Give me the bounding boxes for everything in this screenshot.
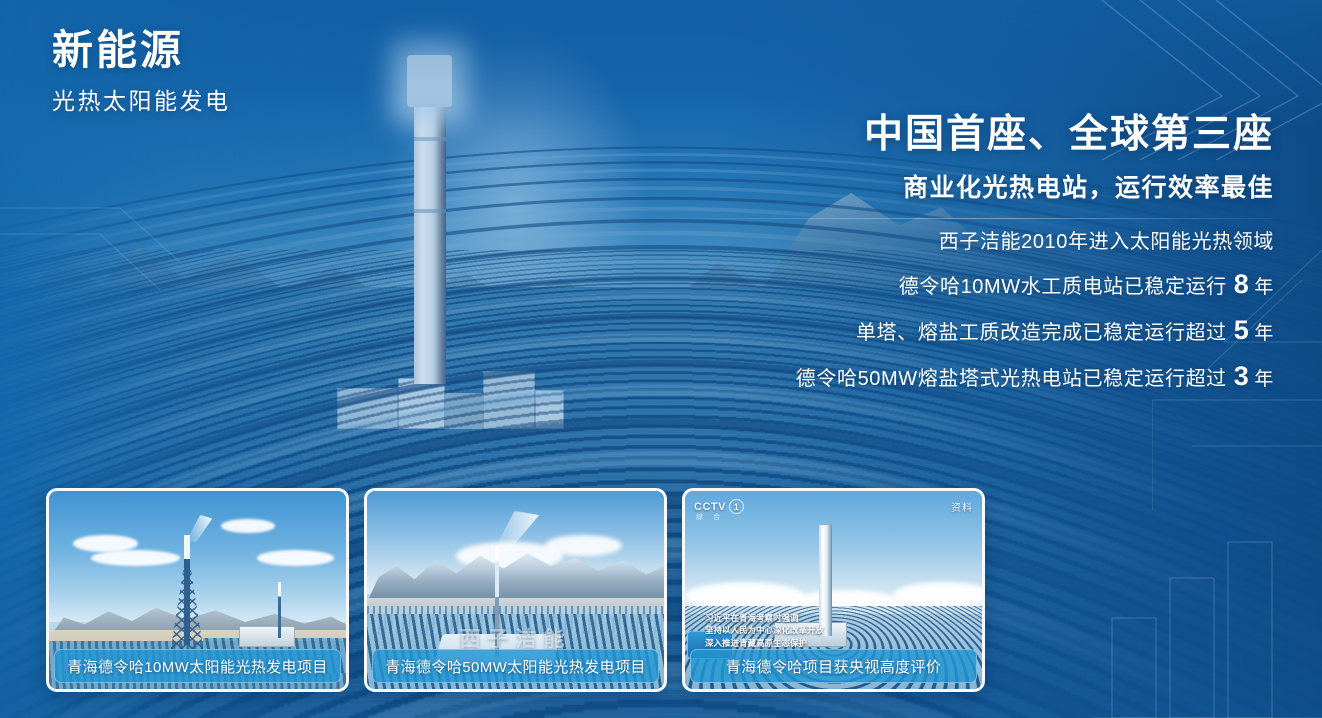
thumbnail-row: 青海德令哈10MW太阳能光热发电项目 西子洁能 青海德令哈50MW太阳能光热发电… (46, 488, 985, 692)
bullet-number: 8 (1234, 271, 1250, 298)
card-2-caption: 青海德令哈50MW太阳能光热发电项目 (372, 649, 659, 683)
bullet-unit: 年 (1254, 370, 1274, 389)
bullet-number: 3 (1234, 363, 1250, 390)
bullet-text: 德令哈50MW熔盐塔式光热电站已稳定运行超过 (796, 369, 1227, 389)
bullet-text: 单塔、熔盐工质改造完成已稳定运行超过 (856, 323, 1227, 343)
bullet-item-4: 德令哈50MW熔盐塔式光热电站已稳定运行超过3年 (654, 363, 1274, 390)
right-content: 中国首座、全球第三座 商业化光热电站，运行效率最佳 西子洁能2010年进入太阳能… (654, 112, 1274, 409)
page-title: 新能源 (52, 28, 231, 74)
headline: 中国首座、全球第三座 (654, 112, 1274, 158)
bullet-unit: 年 (1254, 278, 1274, 297)
news-ticker: 习近平在青海考察时强调 坚持以人民为中心深化改革开放 深入推进青藏高原生态保护 (705, 612, 974, 649)
cctv-sublabel: 综 合 (696, 512, 724, 522)
ticker-line-3: 深入推进青藏高原生态保护 (705, 637, 974, 649)
thumbnail-card-2[interactable]: 西子洁能 青海德令哈50MW太阳能光热发电项目 (364, 488, 667, 692)
thumbnail-card-3[interactable]: CCTV 1 综 合 资料 习近平在青海考察时强调 坚持以人民为中心深化改革开放… (682, 488, 985, 692)
bullet-item-2: 德令哈10MW水工质电站已稳定运行8年 (654, 271, 1274, 298)
bullet-item-3: 单塔、熔盐工质改造完成已稳定运行超过5年 (654, 317, 1274, 344)
card-3-caption: 青海德令哈项目获央视高度评价 (690, 649, 977, 683)
bullet-list: 西子洁能2010年进入太阳能光热领域德令哈10MW水工质电站已稳定运行8年单塔、… (654, 232, 1274, 390)
ticker-line-1: 习近平在青海考察时强调 (705, 612, 974, 624)
source-badge: 资料 (951, 499, 973, 514)
ticker-line-2: 坚持以人民为中心深化改革开放 (705, 624, 974, 636)
divider (654, 218, 1274, 219)
slide-root: 新能源 光热太阳能发电 中国首座、全球第三座 商业化光热电站，运行效率最佳 西子… (0, 0, 1322, 718)
bullet-number: 5 (1234, 317, 1250, 344)
cctv-label: CCTV (694, 501, 726, 513)
title-block: 新能源 光热太阳能发电 (52, 28, 231, 116)
subheadline: 商业化光热电站，运行效率最佳 (654, 168, 1274, 204)
bullet-unit: 年 (1254, 324, 1274, 343)
bullet-item-1: 西子洁能2010年进入太阳能光热领域 (654, 232, 1274, 252)
cctv-channel-number: 1 (729, 499, 744, 514)
page-subtitle: 光热太阳能发电 (52, 82, 231, 116)
card-1-caption: 青海德令哈10MW太阳能光热发电项目 (54, 649, 341, 683)
bullet-text: 西子洁能2010年进入太阳能光热领域 (939, 232, 1274, 252)
thumbnail-card-1[interactable]: 青海德令哈10MW太阳能光热发电项目 (46, 488, 349, 692)
bullet-text: 德令哈10MW水工质电站已稳定运行 (899, 277, 1227, 297)
